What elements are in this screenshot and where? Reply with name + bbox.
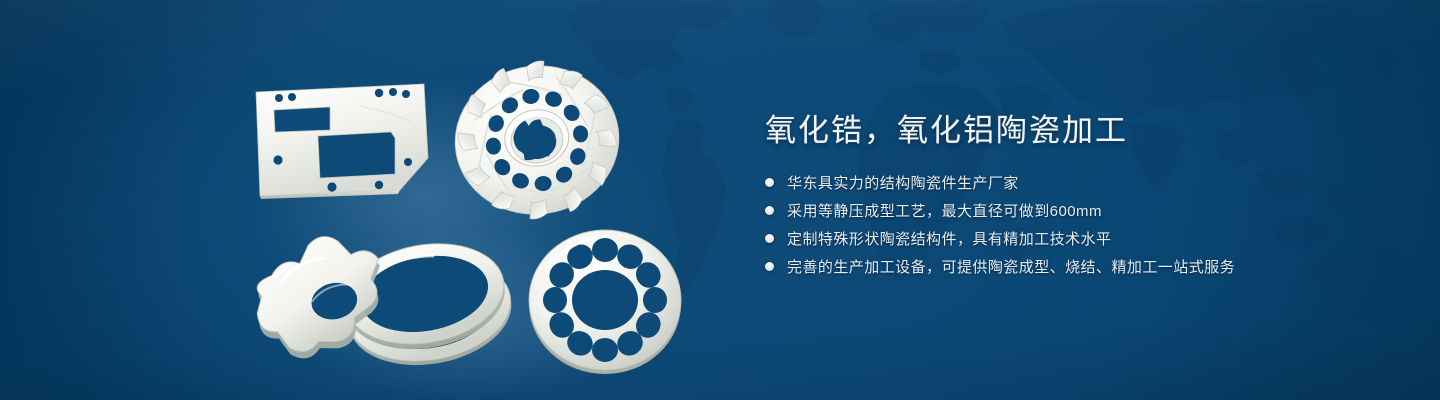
list-item: 华东具实力的结构陶瓷件生产厂家	[765, 172, 1235, 193]
banner-headline: 氧化锆，氧化铝陶瓷加工	[765, 112, 1128, 151]
list-item: 采用等静压成型工艺，最大直径可做到600mm	[765, 200, 1235, 221]
list-item: 完善的生产加工设备，可提供陶瓷成型、烧结、精加工一站式服务	[765, 256, 1235, 277]
banner-text-column: 氧化锆，氧化铝陶瓷加工 华东具实力的结构陶瓷件生产厂家 采用等静压成型工艺，最大…	[765, 0, 1365, 400]
feature-text: 华东具实力的结构陶瓷件生产厂家	[787, 172, 1019, 193]
perforated-ceramic-disc	[524, 226, 686, 376]
bullet-dot-icon	[765, 206, 774, 215]
ceramic-products-banner: 氧化锆，氧化铝陶瓷加工 华东具实力的结构陶瓷件生产厂家 采用等静压成型工艺，最大…	[0, 0, 1440, 400]
ceramic-impeller-disc	[450, 52, 625, 227]
list-item: 定制特殊形状陶瓷结构件，具有精加工技术水平	[765, 228, 1235, 249]
bullet-dot-icon	[765, 234, 774, 243]
machined-ceramic-plate	[248, 80, 438, 200]
feature-list: 华东具实力的结构陶瓷件生产厂家 采用等静压成型工艺，最大直径可做到600mm 定…	[765, 172, 1235, 284]
product-photo-cluster	[0, 0, 740, 400]
bullet-dot-icon	[765, 178, 774, 187]
feature-text: 完善的生产加工设备，可提供陶瓷成型、烧结、精加工一站式服务	[787, 256, 1235, 277]
cross-shaped-ceramic-part-and-rings	[252, 228, 520, 368]
feature-text: 采用等静压成型工艺，最大直径可做到600mm	[787, 200, 1102, 221]
bullet-dot-icon	[765, 262, 774, 271]
feature-text: 定制特殊形状陶瓷结构件，具有精加工技术水平	[787, 228, 1111, 249]
